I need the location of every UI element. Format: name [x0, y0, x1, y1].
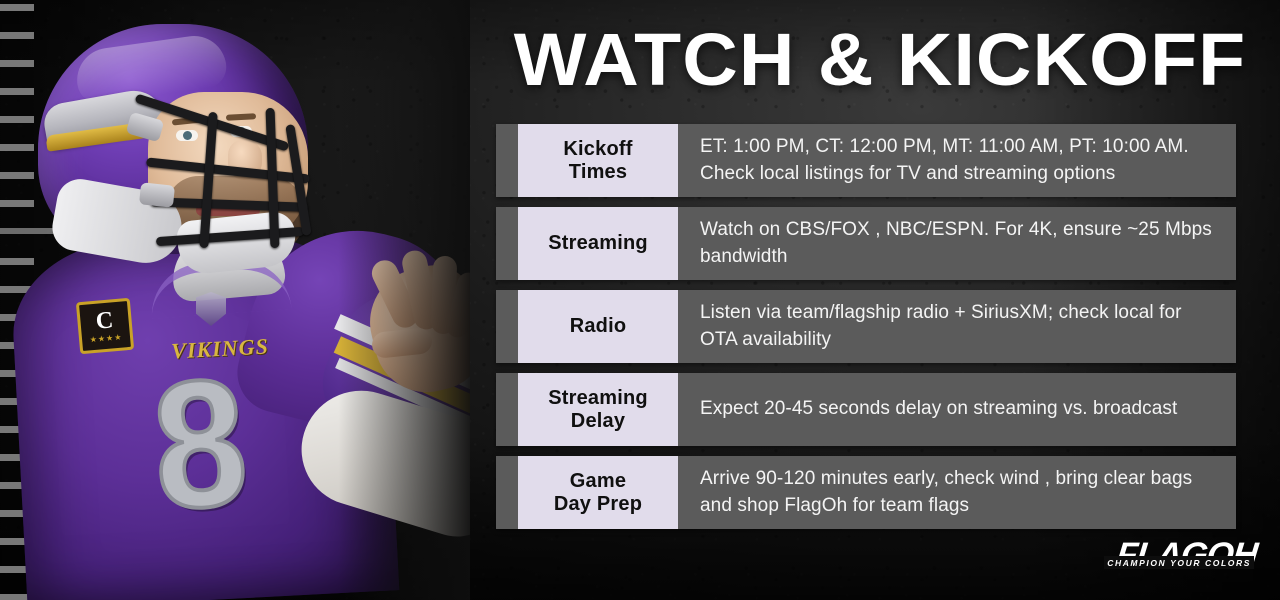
- captain-letter: C: [95, 308, 114, 333]
- info-row-label: Streaming Delay: [518, 373, 678, 446]
- info-table: Kickoff TimesET: 1:00 PM, CT: 12:00 PM, …: [496, 124, 1236, 539]
- pupil-left: [183, 131, 192, 140]
- brand-logo: FLAGOH CHAMPION YOUR COLORS: [1100, 532, 1256, 578]
- info-row-value: ET: 1:00 PM, CT: 12:00 PM, MT: 11:00 AM,…: [678, 124, 1236, 197]
- info-row: Streaming DelayExpect 20-45 seconds dela…: [496, 373, 1236, 446]
- info-row: StreamingWatch on CBS/FOX , NBC/ESPN. Fo…: [496, 207, 1236, 280]
- info-row-label: Radio: [518, 290, 678, 363]
- brand-tagline: CHAMPION YOUR COLORS: [1104, 556, 1254, 569]
- info-row-value: Expect 20-45 seconds delay on streaming …: [678, 373, 1236, 446]
- eye-left: [176, 130, 198, 141]
- player-photo: C ★★★★ VIKINGS 8: [0, 0, 470, 600]
- helmet-clip-lower: [139, 182, 175, 207]
- info-row-label: Kickoff Times: [518, 124, 678, 197]
- info-row: Radio Listen via team/flagship radio + S…: [496, 290, 1236, 363]
- info-row: Game Day PrepArrive 90-120 minutes early…: [496, 456, 1236, 529]
- info-row-value: Watch on CBS/FOX , NBC/ESPN. For 4K, ens…: [678, 207, 1236, 280]
- info-row-label: Streaming: [518, 207, 678, 280]
- jersey-number: 8: [149, 365, 252, 526]
- captain-patch: C ★★★★: [76, 298, 134, 355]
- info-row-label: Game Day Prep: [518, 456, 678, 529]
- page-title: WATCH & KICKOFF: [485, 22, 1275, 97]
- info-row: Kickoff TimesET: 1:00 PM, CT: 12:00 PM, …: [496, 124, 1236, 197]
- captain-stars: ★★★★: [90, 334, 123, 345]
- info-row-value: Listen via team/flagship radio + SiriusX…: [678, 290, 1236, 363]
- poster-canvas: C ★★★★ VIKINGS 8: [0, 0, 1280, 600]
- info-row-value: Arrive 90-120 minutes early, check wind …: [678, 456, 1236, 529]
